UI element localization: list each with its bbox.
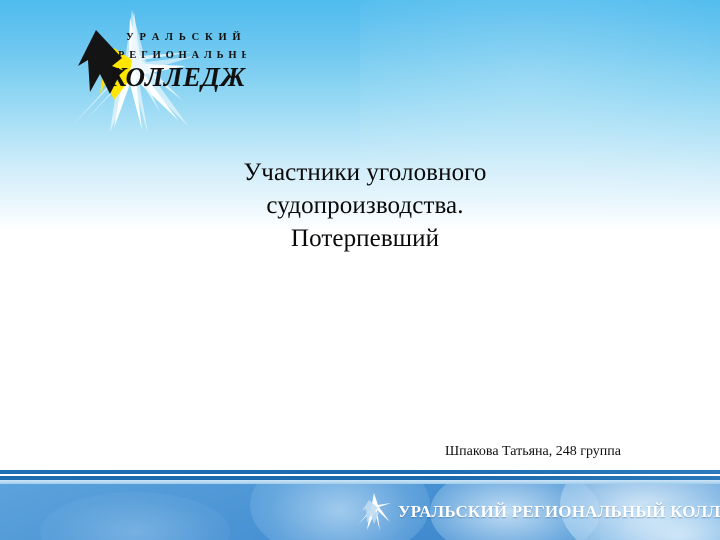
footer-logo-star-icon <box>356 492 392 532</box>
footer-band: УРАЛЬСКИЙ РЕГИОНАЛЬНЫЙ КОЛЛЕДЖ <box>0 484 720 540</box>
footer-cloud-left <box>40 492 230 540</box>
title-line-1: Участники уголовного <box>120 156 610 189</box>
footer-brand: УРАЛЬСКИЙ РЕГИОНАЛЬНЫЙ КОЛЛЕДЖ <box>356 484 720 540</box>
emblem-text-line1: У Р А Л Ь С К И Й <box>126 31 242 43</box>
author-subtitle: Шпакова Татьяна, 248 группа <box>380 443 686 461</box>
emblem-text-line2: Р Е Г И О Н А Л Ь Н Ы Й <box>118 49 246 61</box>
title-line-2: судопроизводства. <box>120 189 610 222</box>
college-emblem: У Р А Л Ь С К И Й Р Е Г И О Н А Л Ь Н Ы … <box>56 8 246 136</box>
slide-title: Участники уголовного судопроизводства. П… <box>120 156 610 255</box>
presentation-slide: У Р А Л Ь С К И Й Р Е Г И О Н А Л Ь Н Ы … <box>0 0 720 540</box>
footer-brand-text: УРАЛЬСКИЙ РЕГИОНАЛЬНЫЙ КОЛЛЕДЖ <box>398 502 720 522</box>
emblem-text-line3: КОЛЛЕДЖ <box>107 62 246 92</box>
title-line-3: Потерпевший <box>120 222 610 255</box>
